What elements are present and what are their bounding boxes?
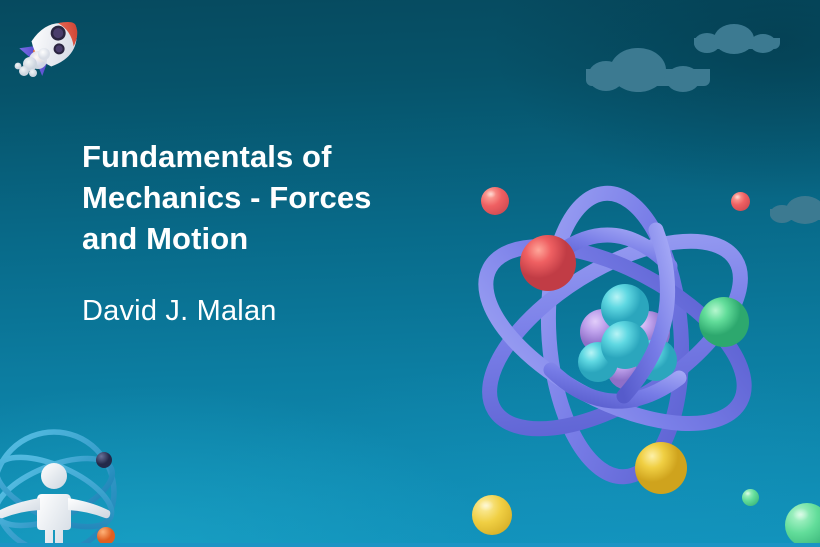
- cloud-small-top: [694, 24, 780, 49]
- particle-navy: [96, 452, 112, 468]
- cloud-puff: [666, 66, 700, 92]
- cloud-puff: [770, 205, 794, 223]
- electron-red-small: [481, 187, 509, 215]
- electron-yellow-large: [635, 442, 687, 494]
- slide-text-block: Fundamentals of Mechanics - Forces and M…: [82, 136, 412, 329]
- electron-yellow-small: [472, 495, 512, 535]
- electron-green-corner: [785, 503, 820, 547]
- electron-green-large: [699, 297, 749, 347]
- author-name: David J. Malan: [82, 259, 412, 329]
- cloud-puff: [694, 33, 720, 53]
- cloud-large-top: [586, 48, 710, 86]
- electron-green-small: [742, 489, 759, 506]
- cloud-puff: [750, 34, 776, 53]
- electron-red-large: [520, 235, 576, 291]
- bottom-accent-strip: [0, 543, 820, 547]
- cloud-puff: [714, 24, 754, 54]
- title-slide: Fundamentals of Mechanics - Forces and M…: [0, 0, 820, 547]
- person-atom-illustration: [0, 418, 144, 547]
- atom-illustration: [452, 120, 772, 490]
- rocket-icon: [8, 6, 100, 82]
- cloud-edge-right: [770, 196, 820, 220]
- page-title: Fundamentals of Mechanics - Forces and M…: [82, 136, 412, 259]
- electron-red-tiny: [731, 192, 750, 211]
- cloud-puff: [588, 61, 624, 91]
